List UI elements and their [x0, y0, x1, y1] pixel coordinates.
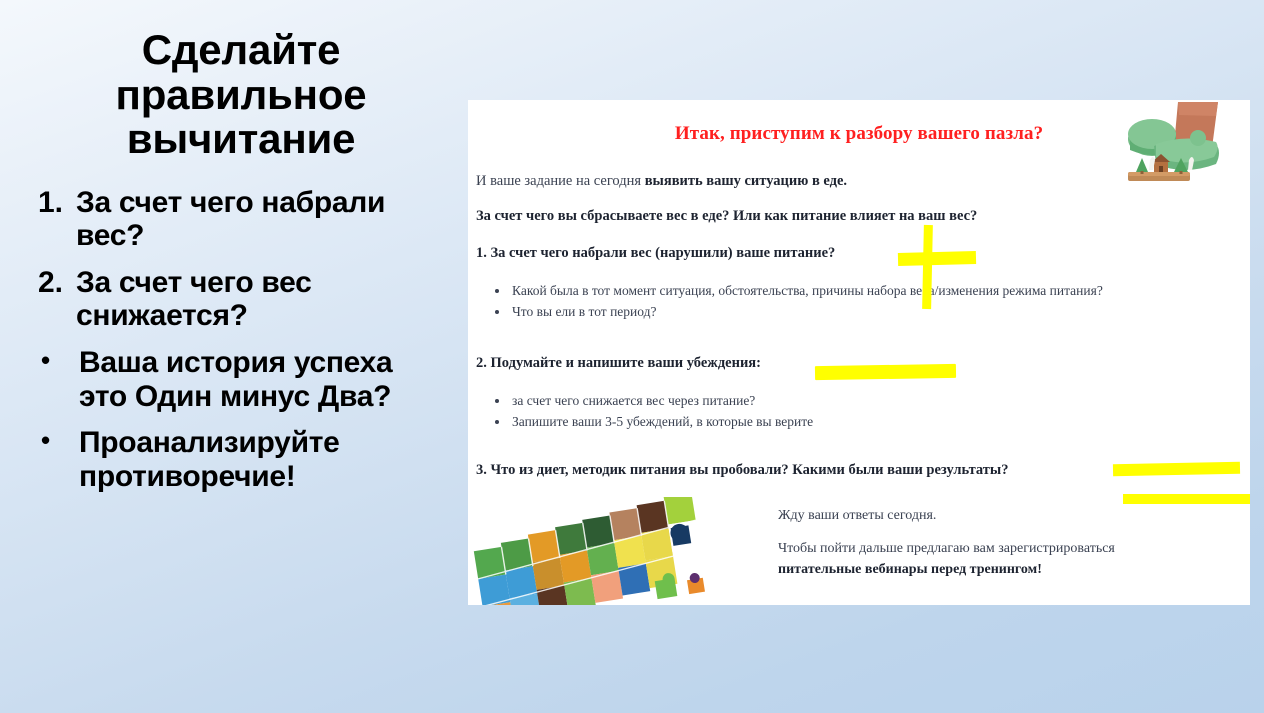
document-closing-line-2: Чтобы пойти дальше предлагаю вам зарегис… [778, 538, 1116, 580]
list-item-marker: • [34, 346, 79, 375]
list-item-label: За счет чего вес снижается? [76, 266, 438, 333]
list-item: Что вы ели в тот период? [510, 301, 1230, 322]
jigsaw-puzzle-photo [468, 497, 726, 605]
bullet-list: 1. За счет чего набрали вес? 2. За счет … [34, 186, 438, 494]
list-item: за счет чего снижается вес через питание… [510, 390, 1230, 411]
document-question-1: 1. За счет чего набрали вес (нарушили) в… [476, 245, 835, 262]
jigsaw-puzzle-illustration [468, 497, 726, 605]
presentation-slide: Сделайте правильное вычитание 1. За счет… [0, 0, 1264, 713]
document-body: Итак, приступим к разбору вашего пазла? … [468, 100, 1250, 605]
list-item: 1. За счет чего набрали вес? [34, 186, 438, 253]
document-question-2: 2. Подумайте и напишите ваши убеждения: [476, 355, 761, 372]
document-intro-plain: И ваше задание на сегодня [476, 173, 645, 189]
document-closing-line-1: Жду ваши ответы сегодня. [778, 505, 1108, 526]
list-item: 2. За счет чего вес снижается? [34, 266, 438, 333]
list-item: Какой была в тот момент ситуация, обстоя… [510, 280, 1230, 301]
list-item-label: Ваша история успеха это Один минус Два? [79, 346, 438, 413]
list-item-marker: • [34, 426, 79, 455]
highlight-bar-question-2 [815, 364, 956, 380]
document-question-3: 3. Что из диет, методик питания вы пробо… [476, 462, 1008, 479]
list-item-marker: 1. [34, 186, 76, 220]
document-intro-bold: выявить вашу ситуацию в еде. [645, 173, 847, 189]
wooden-puzzle-toy-illustration [1126, 102, 1242, 188]
list-item: Запишите ваши 3-5 убеждений, в которые в… [510, 411, 1230, 432]
list-item-marker: 2. [34, 266, 76, 300]
document-closing-plain: Чтобы пойти дальше предлагаю вам зарегис… [778, 541, 1115, 556]
highlight-cross-vertical-stroke [922, 225, 933, 309]
document-screenshot: Итак, приступим к разбору вашего пазла? … [468, 100, 1250, 605]
list-item-label: Проанализируйте противоречие! [79, 426, 438, 493]
document-lead-question: За счет чего вы сбрасываете вес в еде? И… [476, 208, 1230, 225]
list-item: • Ваша история успеха это Один минус Два… [34, 346, 438, 413]
highlight-cross-horizontal-stroke [898, 251, 976, 266]
list-item-label: За счет чего набрали вес? [76, 186, 438, 253]
document-intro-paragraph: И ваше задание на сегодня выявить вашу с… [476, 172, 1100, 192]
highlight-bar-question-3-upper [1113, 462, 1240, 476]
document-question-1-bullets: Какой была в тот момент ситуация, обстоя… [476, 280, 1230, 323]
list-item: • Проанализируйте противоречие! [34, 426, 438, 493]
wooden-puzzle-toy-photo [1126, 102, 1242, 188]
document-closing-bold: питательные вебинары перед тренингом! [778, 562, 1042, 577]
highlight-bar-question-3-lower [1123, 494, 1250, 504]
page-title: Сделайте правильное вычитание [34, 28, 438, 162]
slide-text-column: Сделайте правильное вычитание 1. За счет… [34, 28, 438, 506]
document-question-2-bullets: за счет чего снижается вес через питание… [476, 390, 1230, 433]
